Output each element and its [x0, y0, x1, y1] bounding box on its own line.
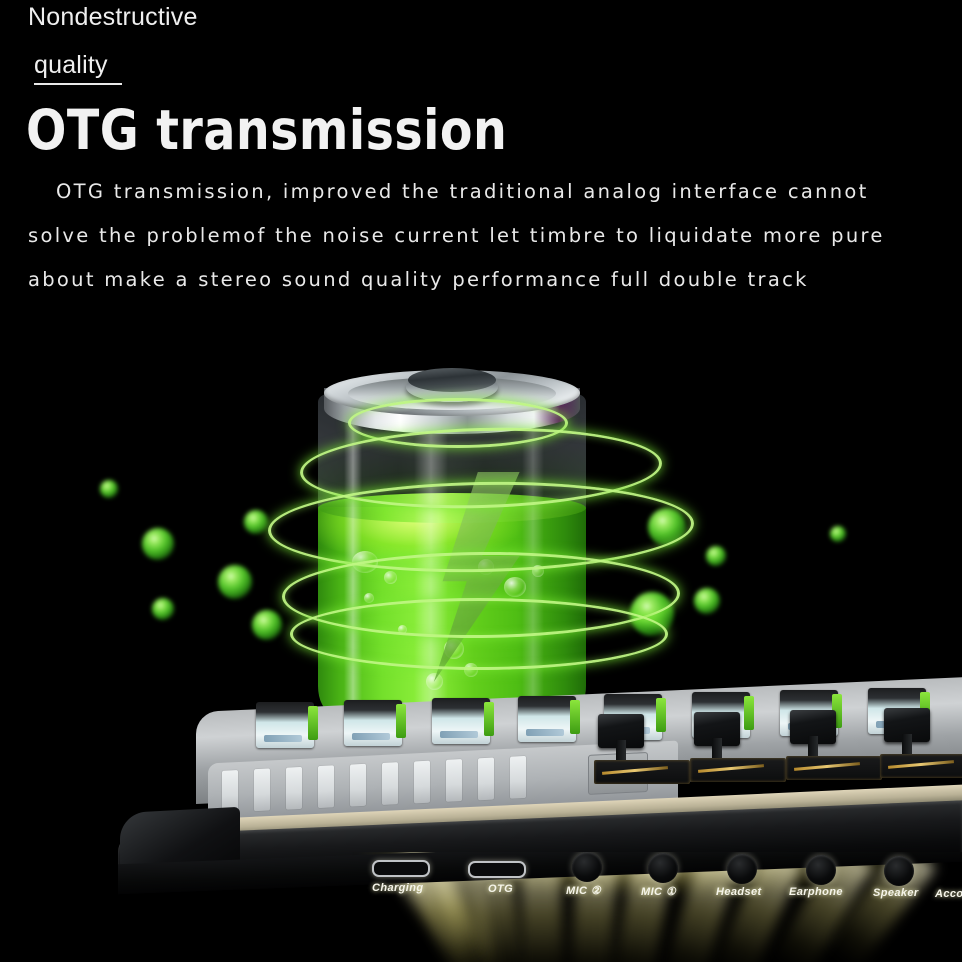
- port-label-earphone: Earphone: [789, 886, 843, 898]
- vent-slot: [446, 759, 462, 802]
- vent-slot: [478, 758, 494, 801]
- vent-slot: [286, 767, 302, 810]
- glow-orb: [244, 510, 268, 534]
- pad-button[interactable]: [344, 700, 402, 746]
- glow-orb: [694, 588, 720, 614]
- pad-button[interactable]: [518, 696, 576, 742]
- port-label-accompaniment: Accom: [935, 888, 962, 900]
- vent-slot: [510, 756, 526, 799]
- kicker-line-two: quality: [34, 50, 122, 80]
- product-feature-banner: Nondestructive quality OTG transmission …: [0, 0, 962, 962]
- vent-slot: [382, 762, 398, 805]
- vent-slot: [318, 765, 334, 808]
- pad-button[interactable]: [256, 702, 314, 748]
- kicker-line-two-group: quality: [34, 50, 122, 85]
- port-label-otg: OTG: [488, 883, 513, 895]
- bubble: [426, 673, 443, 690]
- port-headset[interactable]: [727, 854, 757, 884]
- volume-fader[interactable]: [594, 718, 704, 784]
- port-otg[interactable]: [468, 861, 526, 878]
- fader-track[interactable]: [880, 754, 962, 778]
- cap-terminal: [408, 368, 496, 392]
- port-label-speaker: Speaker: [873, 887, 919, 899]
- port-charging[interactable]: [372, 860, 430, 877]
- fader-track[interactable]: [594, 760, 690, 784]
- port-earphone[interactable]: [806, 855, 836, 885]
- port-label-headset: Headset: [716, 886, 762, 898]
- volume-fader[interactable]: [880, 712, 962, 778]
- vent-slot: [414, 761, 430, 804]
- port-speaker[interactable]: [884, 856, 914, 886]
- glow-orb: [706, 546, 726, 566]
- port-label-mic-1: MIC ①: [641, 885, 676, 898]
- page-title: OTG transmission: [26, 98, 507, 162]
- glow-orb: [218, 565, 252, 599]
- port-label-mic-2: MIC ②: [566, 884, 601, 897]
- pad-button[interactable]: [432, 698, 490, 744]
- kicker-underline: [34, 83, 122, 85]
- description-paragraph: OTG transmission, improved the tradition…: [28, 170, 928, 302]
- port-glow-area: Charging OTG MIC ② MIC ① Headset Earphon…: [0, 852, 962, 962]
- energy-ring: [290, 598, 668, 670]
- glow-orb: [100, 480, 118, 498]
- glow-orb: [252, 610, 282, 640]
- kicker-line-one: Nondestructive: [28, 3, 198, 32]
- port-mic-1[interactable]: [648, 853, 678, 883]
- port-row: Charging OTG MIC ② MIC ① Headset Earphon…: [0, 852, 962, 912]
- glow-orb: [830, 526, 846, 542]
- glow-orb: [152, 598, 174, 620]
- glow-orb: [142, 528, 174, 560]
- volume-fader[interactable]: [690, 716, 800, 782]
- port-label-charging: Charging: [372, 882, 423, 894]
- vent-slot: [350, 764, 366, 807]
- fader-track[interactable]: [690, 758, 786, 782]
- fader-track[interactable]: [786, 756, 882, 780]
- vent-slot: [254, 768, 270, 811]
- port-mic-2[interactable]: [572, 852, 602, 882]
